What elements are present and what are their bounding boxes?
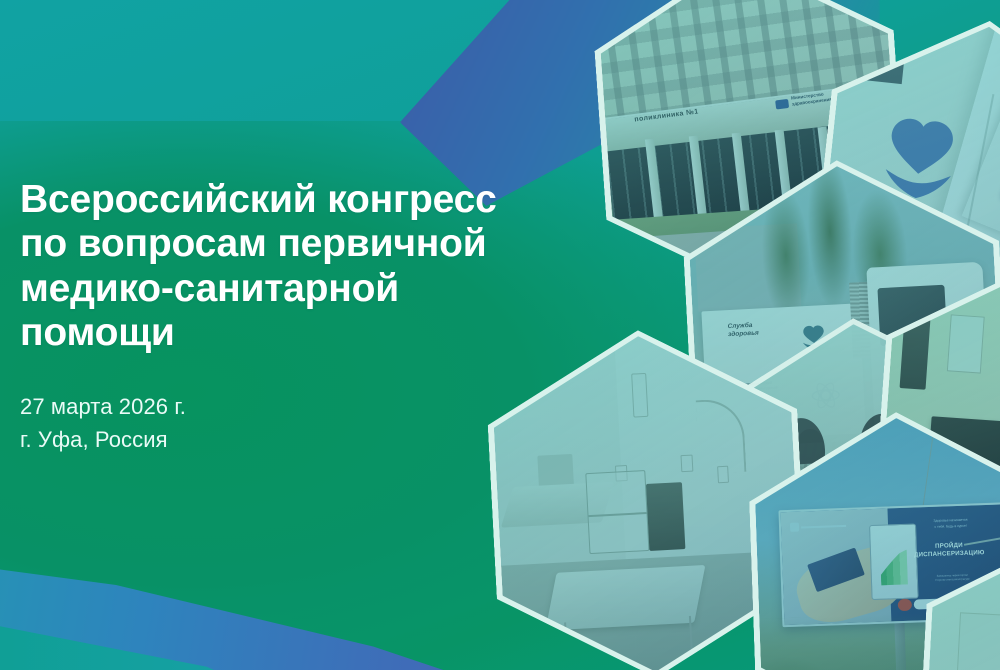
banner-copy: Всероссийский конгресс по вопросам перви… bbox=[20, 178, 560, 457]
page-title: Всероссийский конгресс по вопросам перви… bbox=[20, 178, 560, 356]
event-meta: 27 марта 2026 г. г. Уфа, Россия bbox=[20, 390, 560, 457]
event-location: г. Уфа, Россия bbox=[20, 423, 560, 456]
event-date: 27 марта 2026 г. bbox=[20, 390, 560, 423]
congress-banner: поликлиника №1 Министерство здравоохране… bbox=[0, 0, 1000, 670]
